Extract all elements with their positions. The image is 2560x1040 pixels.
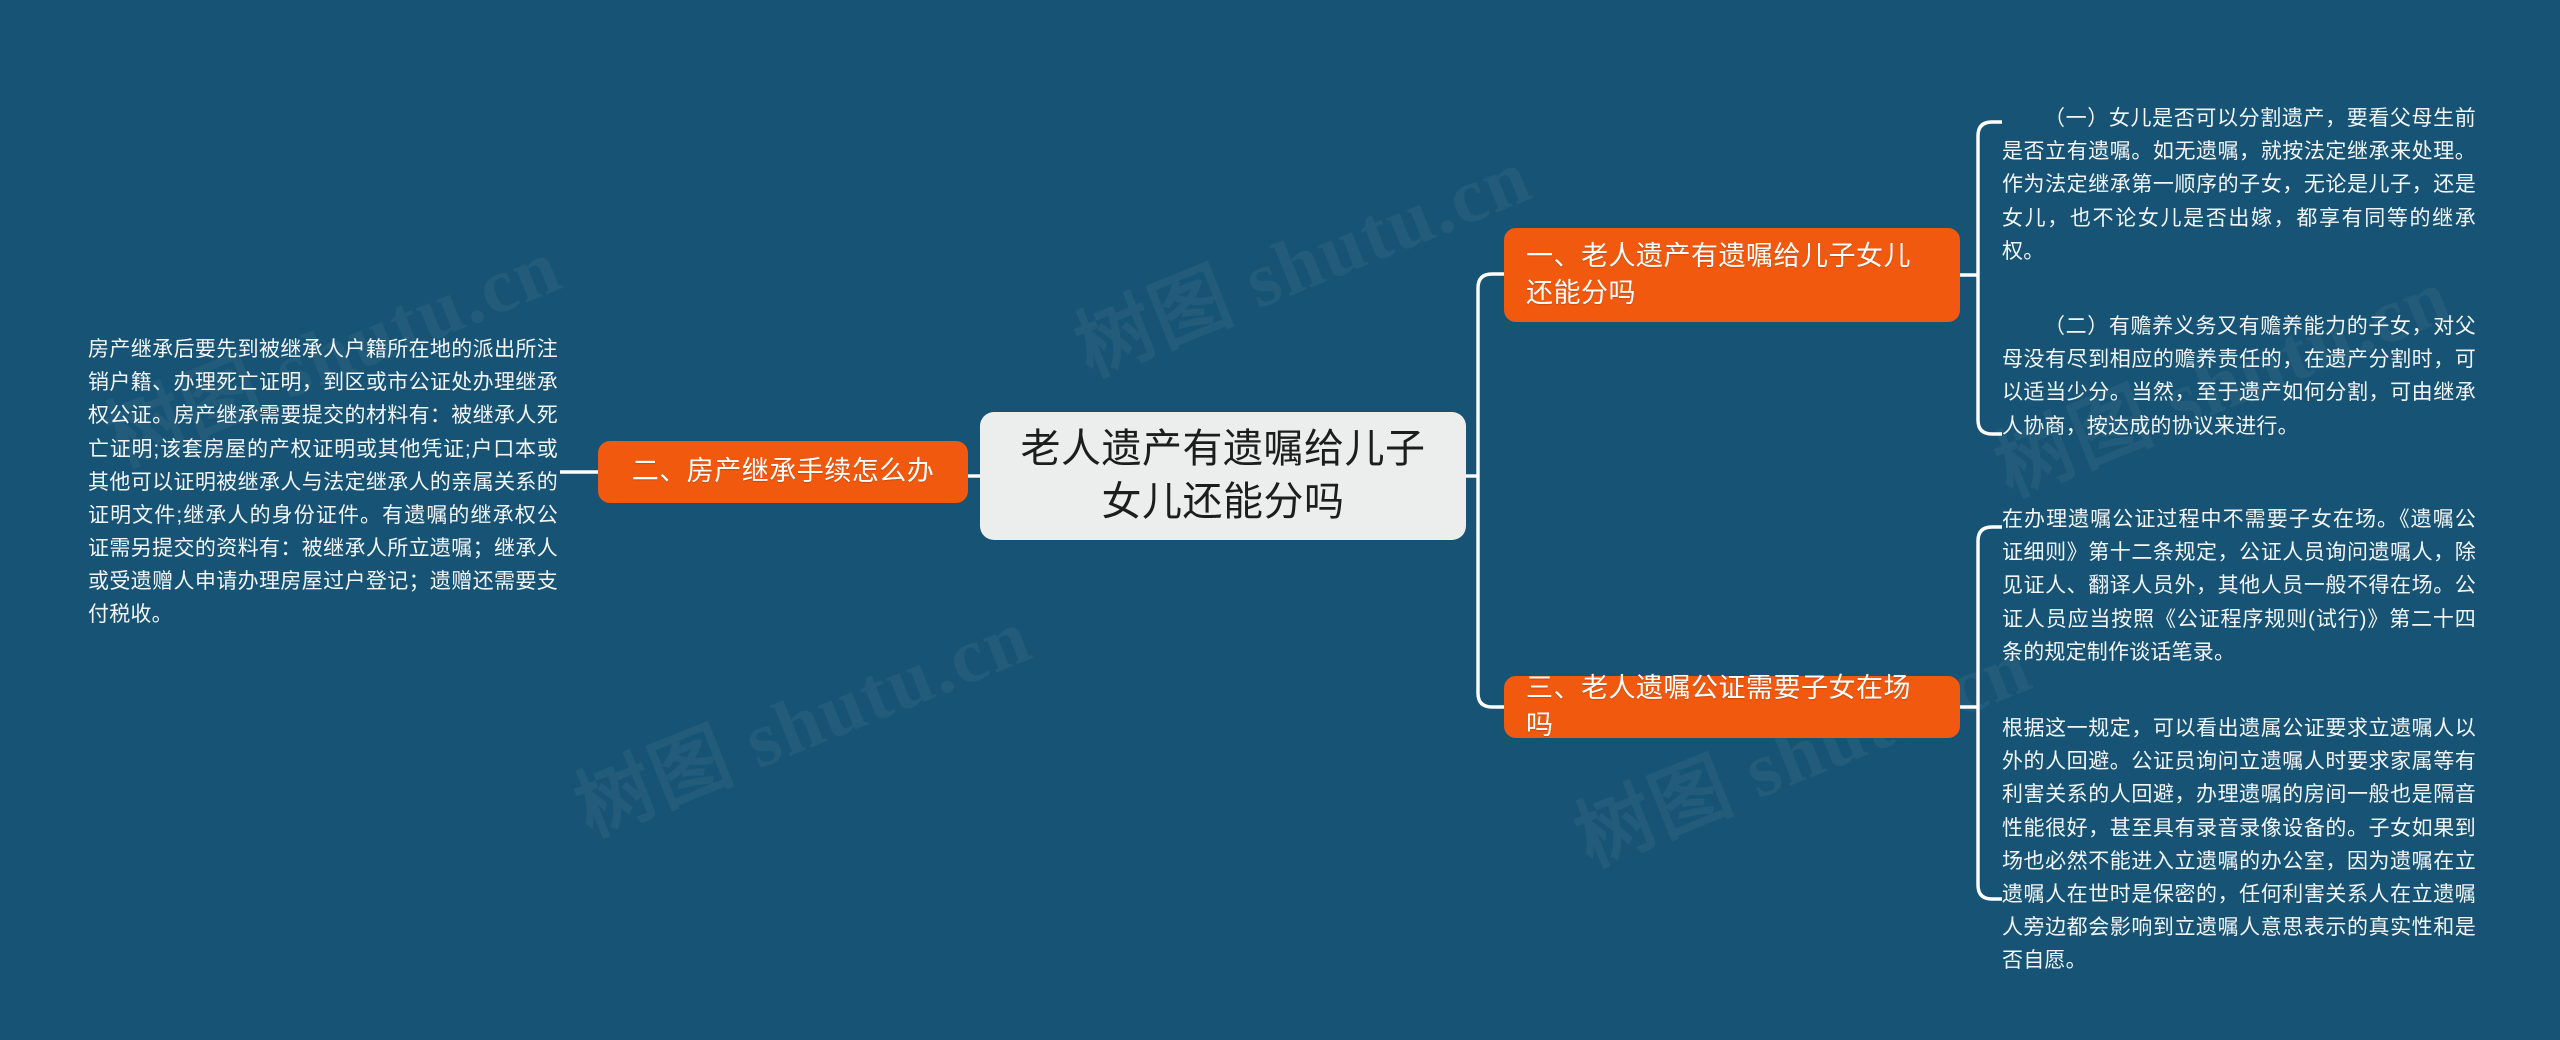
connector-root-to-topic-1 (1478, 274, 1504, 476)
watermark: 树图 shutu.cn (1057, 114, 1545, 398)
root-node[interactable]: 老人遗产有遗嘱给儿子女儿还能分吗 (980, 412, 1466, 540)
topic-node-3-label: 三、老人遗嘱公证需要子女在场吗 (1526, 670, 1938, 745)
topic-node-3[interactable]: 三、老人遗嘱公证需要子女在场吗 (1504, 676, 1960, 738)
connector-topic-3-to-detail-b (1978, 707, 2002, 899)
watermark: 树图 shutu.cn (557, 574, 1045, 858)
root-node-label: 老人遗产有遗嘱给儿子女儿还能分吗 (1006, 423, 1440, 529)
leaf-topic-1-detail-a: （一）女儿是否可以分割遗产，要看父母生前是否立有遗嘱。如无遗嘱，就按法定继承来处… (2002, 102, 2476, 268)
leaf-topic-1-detail-b: （二）有赡养义务又有赡养能力的子女，对父母没有尽到相应的赡养责任的，在遗产分割时… (2002, 310, 2476, 443)
leaf-topic-3-detail-b: 根据这一规定，可以看出遗属公证要求立遗嘱人以外的人回避。公证员询问立遗嘱人时要求… (2002, 712, 2476, 977)
topic-node-1[interactable]: 一、老人遗产有遗嘱给儿子女儿还能分吗 (1504, 228, 1960, 322)
watermark: 树图 shutu.cn (1557, 604, 2045, 888)
leaf-topic-3-detail-a: 在办理遗嘱公证过程中不需要子女在场。《遗嘱公证细则》第十二条规定，公证人员询问遗… (2002, 503, 2476, 669)
leaf-topic-2-detail: 房产继承后要先到被继承人户籍所在地的派出所注销户籍、办理死亡证明，到区或市公证处… (88, 333, 558, 632)
connector-topic-1-to-detail-a (1978, 122, 2002, 275)
connector-topic-1-to-detail-b (1978, 275, 2002, 434)
connector-topic-3-to-detail-a (1978, 527, 2002, 707)
topic-node-2[interactable]: 二、房产继承手续怎么办 (598, 441, 968, 503)
topic-node-2-label: 二、房产继承手续怎么办 (632, 453, 935, 490)
mindmap-canvas: 树图 shutu.cn 树图 shutu.cn 树图 shutu.cn 树图 s… (0, 0, 2560, 1040)
connector-root-to-topic-3 (1478, 476, 1504, 707)
topic-node-1-label: 一、老人遗产有遗嘱给儿子女儿还能分吗 (1526, 238, 1938, 313)
